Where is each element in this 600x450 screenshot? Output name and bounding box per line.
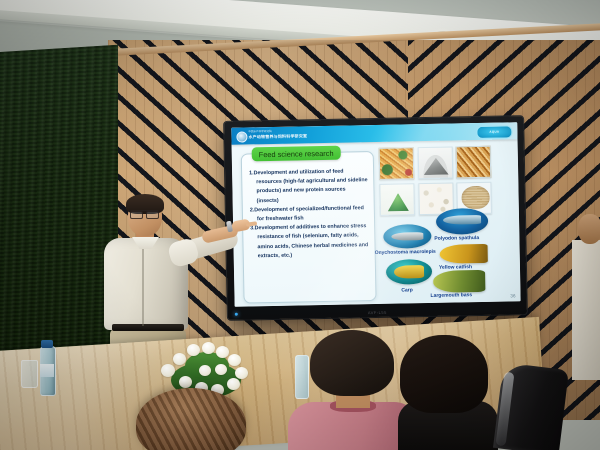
slide-body: Feed science research 1.Development and … [232,139,521,306]
slide: 中国水产科学研究院 水产动物营养与饲料科学研究室 AQUA Feed scien… [231,122,520,306]
rose-icon [173,353,186,365]
presenter-shirt-placket [142,244,144,326]
slide-number: 36 [510,293,515,298]
fish-label-onychostoma: Onychostoma macrolepis [375,249,436,256]
photo-mealworms-on-vegetable-matter [379,147,415,180]
fish-label-carp: Carp [401,287,413,293]
fish-carp-body [394,265,424,279]
rose-icon [215,364,227,375]
standing-person-right-edge [572,240,600,380]
feed-ingredient-image-grid [379,146,492,219]
water-bottle-label [40,364,54,377]
slide-corner-logo-icon: AQUA [476,125,512,139]
audience-woman-black-top [392,335,500,450]
water-bottle-cap [41,340,53,348]
conference-room-photo: 中国水产科学研究院 水产动物营养与饲料科学研究室 AQUA Feed scien… [0,0,600,450]
drinking-glass [21,360,38,388]
rose-icon [179,376,192,388]
photo-green-algae-powder-pile [379,183,415,216]
glasses-icon [130,210,159,218]
photo-fish-yellow-catfish [440,244,488,264]
fish-onychostoma-body [391,232,423,241]
rose-icon [235,367,248,379]
slide-text-card: Feed science research 1.Development and … [241,151,377,304]
standing-person-head [578,214,600,244]
list-item: 1.Development and utilization of feed re… [249,167,369,206]
list-item: 2.Development of specialized/functional … [250,204,369,225]
tv-screen-surface: 中国水产科学研究院 水产动物营养与饲料科学研究室 AQUA Feed scien… [231,122,520,306]
rose-icon [228,354,241,366]
rose-icon [216,346,229,358]
institution-name-cn: 中国水产科学研究院 水产动物营养与饲料科学研究室 [248,129,307,139]
slide-corner-logo-text: AQUA [477,126,511,138]
fish-label-largemouth-bass: Largemouth bass [430,292,472,299]
slide-bullet-list: 1.Development and utilization of feed re… [249,167,370,261]
list-item: 3.Development of additives to enhance st… [250,222,370,261]
audience-woman-hair [400,335,488,413]
rose-icon [187,344,200,356]
institution-seal-icon [236,131,247,142]
rose-icon [161,364,175,377]
photo-insect-larvae-mass [456,146,492,179]
rose-icon [199,365,211,376]
slide-title: Feed science research [252,146,341,162]
rose-icon [202,342,215,354]
audience-man-hair [310,330,394,396]
photo-gray-meal-powder-pile [417,147,453,180]
presentation-screen[interactable]: 中国水产科学研究院 水产动物营养与饲料科学研究室 AQUA Feed scien… [224,116,527,320]
foreground-person-back-of-head [136,388,246,450]
photo-fish-largemouth-bass [433,270,485,293]
presenter-belt [112,324,184,331]
fish-paddlefish-body [443,215,481,225]
fish-label-paddlefish: Polyodon spathula [434,235,479,242]
rose-icon [227,378,240,390]
image-grid-row [379,146,492,180]
